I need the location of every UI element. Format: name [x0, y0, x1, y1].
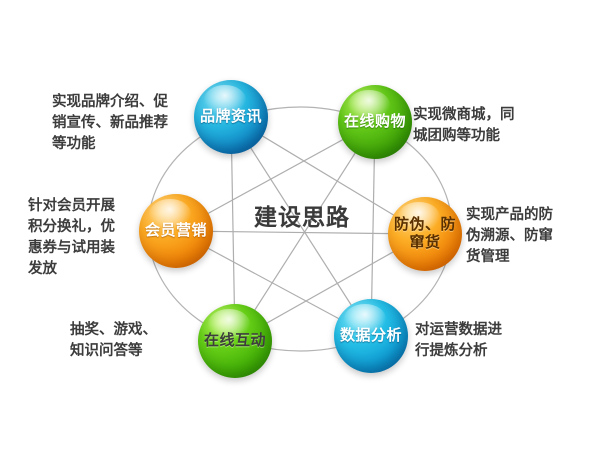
bubble-label-online-shopping: 在线购物: [342, 113, 408, 131]
bubble-member-marketing[interactable]: 会员营销: [139, 194, 213, 268]
note-line: 实现品牌介绍、促: [52, 92, 168, 113]
note-online-shopping: 实现微商城，同城团购等功能: [413, 105, 515, 147]
note-anti-counterfeit: 实现产品的防伪溯源、防窜货管理: [466, 205, 553, 268]
diagram-canvas: 建设思路 品牌资讯在线购物防伪、防窜货数据分析在线互动会员营销 实现品牌介绍、促…: [0, 0, 600, 472]
note-line: 对运营数据进: [415, 320, 502, 341]
bubble-online-shopping[interactable]: 在线购物: [338, 85, 412, 159]
bubble-label-data-analysis: 数据分析: [338, 327, 404, 345]
note-line: 知识问答等: [70, 341, 157, 362]
note-line: 实现产品的防: [466, 205, 553, 226]
bubble-anti-counterfeit[interactable]: 防伪、防窜货: [388, 197, 462, 271]
center-title: 建设思路: [232, 203, 372, 231]
bubble-label-brand-news: 品牌资讯: [198, 108, 264, 126]
note-line: 货管理: [466, 247, 553, 268]
note-online-interact: 抽奖、游戏、知识问答等: [70, 320, 157, 362]
note-line: 实现微商城，同: [413, 105, 515, 126]
note-line: 抽奖、游戏、: [70, 320, 157, 341]
note-brand-news: 实现品牌介绍、促销宣传、新品推荐等功能: [52, 92, 168, 155]
note-line: 惠券与试用装: [28, 238, 115, 259]
note-line: 销宣传、新品推荐: [52, 113, 168, 134]
bubble-brand-news[interactable]: 品牌资讯: [194, 80, 268, 154]
note-line: 发放: [28, 259, 115, 280]
note-line: 城团购等功能: [413, 126, 515, 147]
bubble-label-anti-counterfeit: 防伪、防窜货: [388, 216, 462, 252]
note-line: 行提炼分析: [415, 341, 502, 362]
note-line: 伪溯源、防窜: [466, 226, 553, 247]
note-line: 针对会员开展: [28, 196, 115, 217]
note-line: 等功能: [52, 134, 168, 155]
note-data-analysis: 对运营数据进行提炼分析: [415, 320, 502, 362]
bubble-online-interact[interactable]: 在线互动: [198, 304, 272, 378]
note-line: 积分换礼，优: [28, 217, 115, 238]
bubble-label-member-marketing: 会员营销: [143, 222, 209, 240]
bubble-label-online-interact: 在线互动: [202, 332, 268, 350]
note-member-marketing: 针对会员开展积分换礼，优惠券与试用装发放: [28, 196, 115, 280]
bubble-data-analysis[interactable]: 数据分析: [334, 299, 408, 373]
